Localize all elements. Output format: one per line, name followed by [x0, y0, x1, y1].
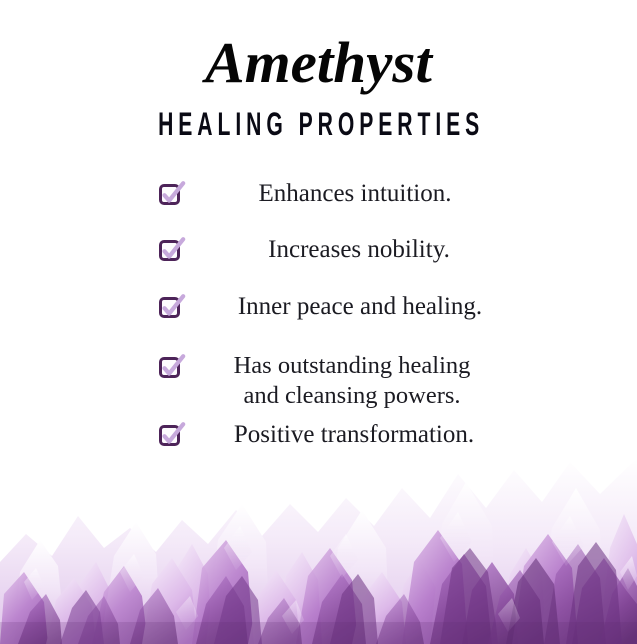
- checkbox-checked-icon: [159, 184, 180, 205]
- checkbox-checked-icon: [159, 357, 180, 378]
- page-subtitle: HEALING PROPERTIES: [108, 92, 528, 140]
- checkbox-checked-icon: [159, 297, 180, 318]
- checkbox-checked-icon: [159, 240, 180, 261]
- poster-header: Amethyst HEALING PROPERTIES: [0, 0, 637, 140]
- poster-canvas: Amethyst HEALING PROPERTIES Enhances int…: [0, 0, 637, 644]
- list-item-label: Has outstanding healing and cleansing po…: [182, 351, 522, 411]
- list-item-label: Increases nobility.: [194, 234, 524, 266]
- amethyst-crystal-image: [0, 444, 637, 644]
- list-item-label: Enhances intuition.: [190, 178, 520, 210]
- list-item-label: Inner peace and healing.: [190, 291, 530, 323]
- checkbox-checked-icon: [159, 425, 180, 446]
- page-title: Amethyst: [0, 34, 637, 92]
